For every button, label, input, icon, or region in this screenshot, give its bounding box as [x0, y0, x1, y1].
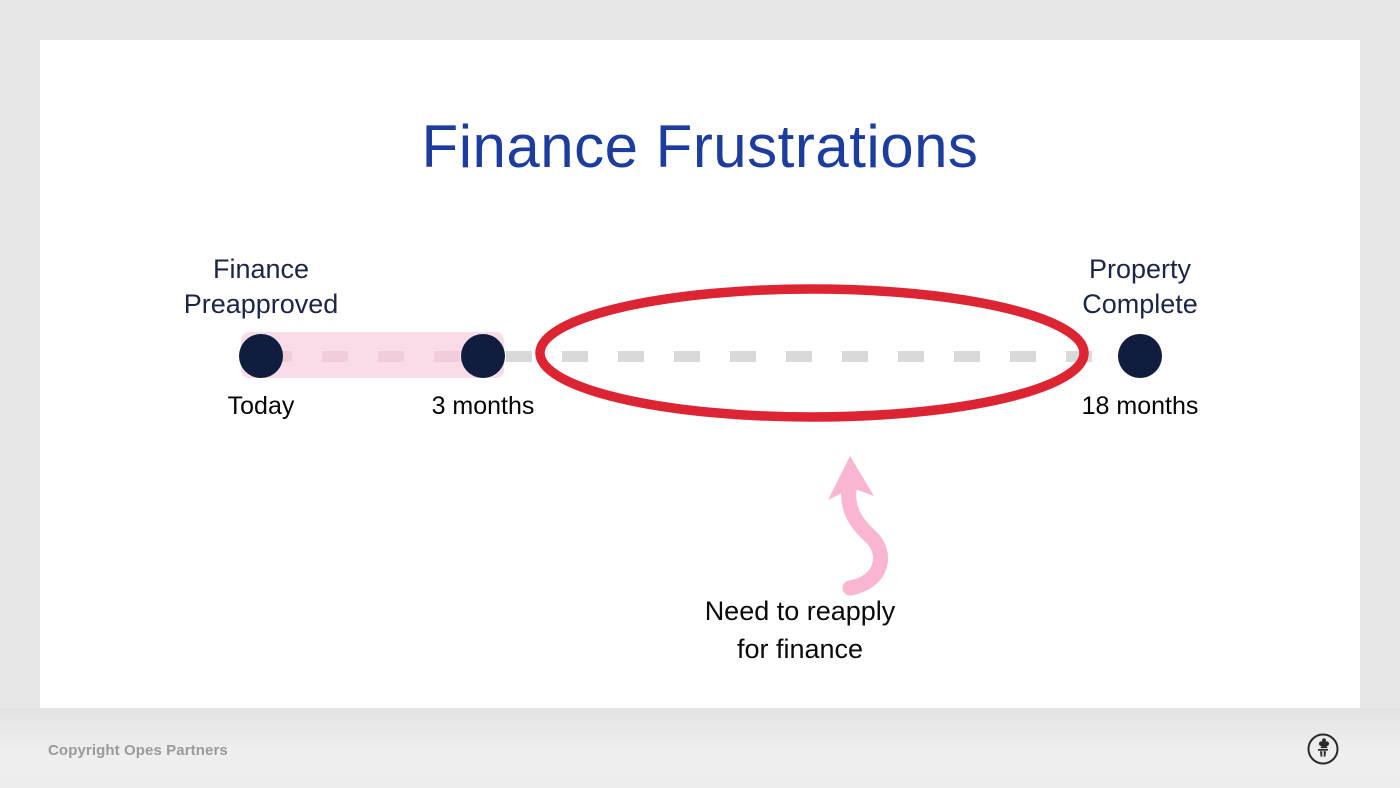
label-line-1: Finance — [121, 252, 401, 287]
fleur-de-lis-circle-logo-icon — [1306, 732, 1340, 766]
red-ellipse-highlight — [534, 280, 1090, 426]
annotation-caption: Need to reapply for finance — [575, 592, 1025, 668]
caption-line-2: for finance — [575, 630, 1025, 668]
timeline-graphic: Finance Preapproved Property Complete To… — [40, 40, 1360, 708]
label-line-2: Preapproved — [121, 287, 401, 322]
timeline-sublabel-today: Today — [161, 391, 361, 421]
timeline-node-18-months — [1118, 334, 1162, 378]
slide-canvas: Finance Frustrations — [40, 40, 1360, 708]
caption-line-1: Need to reapply — [575, 592, 1025, 630]
timeline-label-finance-preapproved: Finance Preapproved — [121, 252, 401, 322]
timeline-node-3-months — [461, 334, 505, 378]
pink-curved-arrow-icon — [788, 440, 908, 600]
footer-copyright: Copyright Opes Partners — [48, 742, 228, 759]
slide-viewer: Copyright Opes Partners Finance Frustrat… — [0, 0, 1400, 788]
timeline-node-today — [239, 334, 283, 378]
